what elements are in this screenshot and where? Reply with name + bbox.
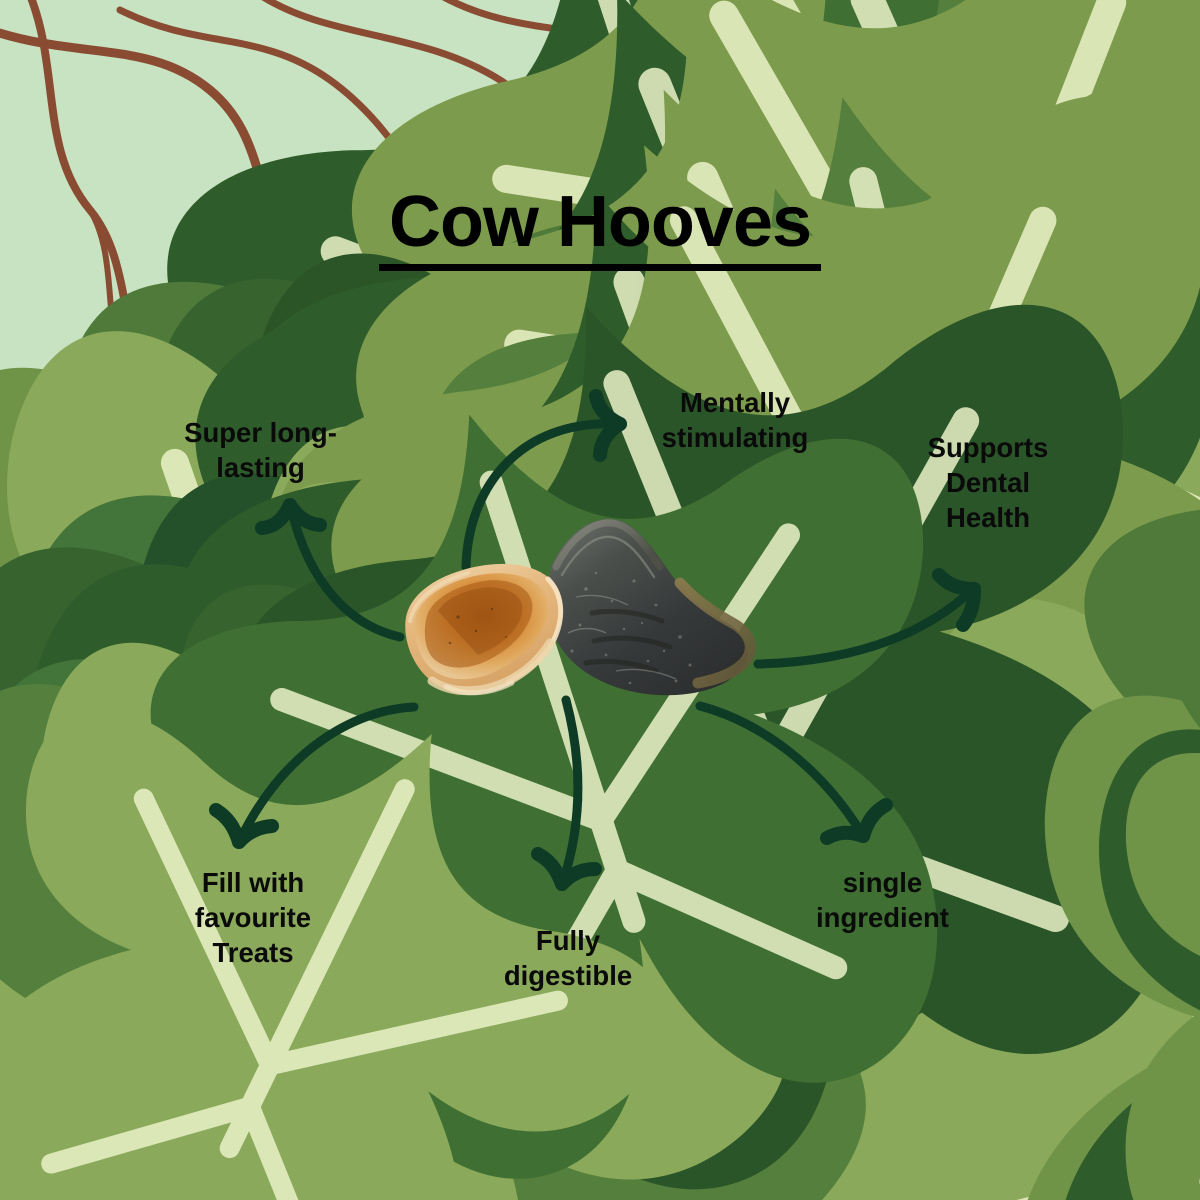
benefit-label-super-long-lasting: Super long- lasting [148, 415, 373, 485]
hooves-illustration [380, 505, 780, 715]
arrow-to-single-ingredient [700, 706, 886, 838]
benefit-label-supports-dental-health: Supports Dental Health [893, 430, 1083, 536]
benefit-label-single-ingredient: single ingredient [775, 865, 990, 935]
benefit-label-fully-digestible: Fully digestible [458, 923, 678, 993]
amber-hoof [405, 564, 562, 693]
arrow-to-fill-with-favourite-treats [216, 707, 414, 842]
arrow-to-supports-dental-health [758, 575, 974, 664]
benefit-label-mentally-stimulating: Mentally stimulating [620, 385, 850, 455]
arrow-to-fully-digestible [538, 700, 595, 884]
dark-hoof [547, 519, 750, 695]
benefit-label-fill-with-favourite-treats: Fill with favourite Treats [148, 865, 358, 971]
infographic-poster: Cow Hooves [0, 0, 1200, 1200]
cow-hooves-product-image [380, 505, 780, 715]
